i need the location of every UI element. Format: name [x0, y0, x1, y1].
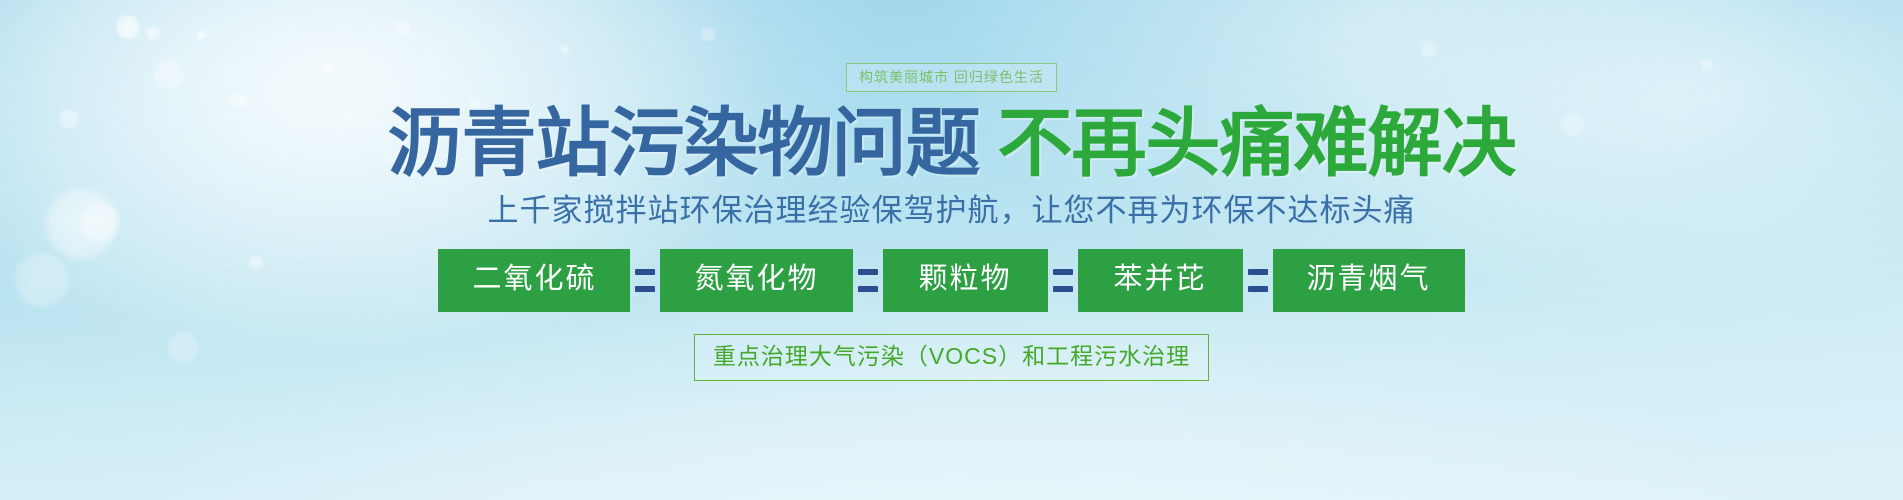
hero-banner: 构筑美丽城市 回归绿色生活 沥青站污染物问题不再头痛难解决 上千家搅拌站环保治理…: [0, 0, 1903, 500]
tag-separator: [630, 249, 660, 312]
subheadline: 上千家搅拌站环保治理经验保驾护航，让您不再为环保不达标头痛: [488, 195, 1416, 226]
tag-item[interactable]: 沥青烟气: [1273, 249, 1465, 312]
tag-separator: [853, 249, 883, 312]
tag-item[interactable]: 氮氧化物: [660, 249, 852, 312]
tag-item[interactable]: 颗粒物: [883, 249, 1048, 312]
tag-item[interactable]: 二氧化硫: [438, 249, 630, 312]
tag-separator: [1243, 249, 1273, 312]
pollutant-tag-list: 二氧化硫 氮氧化物 颗粒物 苯并芘 沥青烟气: [438, 249, 1464, 312]
page-title: 沥青站污染物问题不再头痛难解决: [387, 106, 1515, 181]
banner-content: 构筑美丽城市 回归绿色生活 沥青站污染物问题不再头痛难解决 上千家搅拌站环保治理…: [0, 0, 1903, 500]
footnote-badge: 重点治理大气污染（VOCS）和工程污水治理: [694, 334, 1209, 381]
tagline-badge: 构筑美丽城市 回归绿色生活: [846, 63, 1057, 92]
tag-item[interactable]: 苯并芘: [1078, 249, 1243, 312]
headline-blue-text: 沥青站污染物问题: [387, 99, 979, 187]
headline-green-text: 不再头痛难解决: [998, 99, 1516, 187]
tag-separator: [1048, 249, 1078, 312]
